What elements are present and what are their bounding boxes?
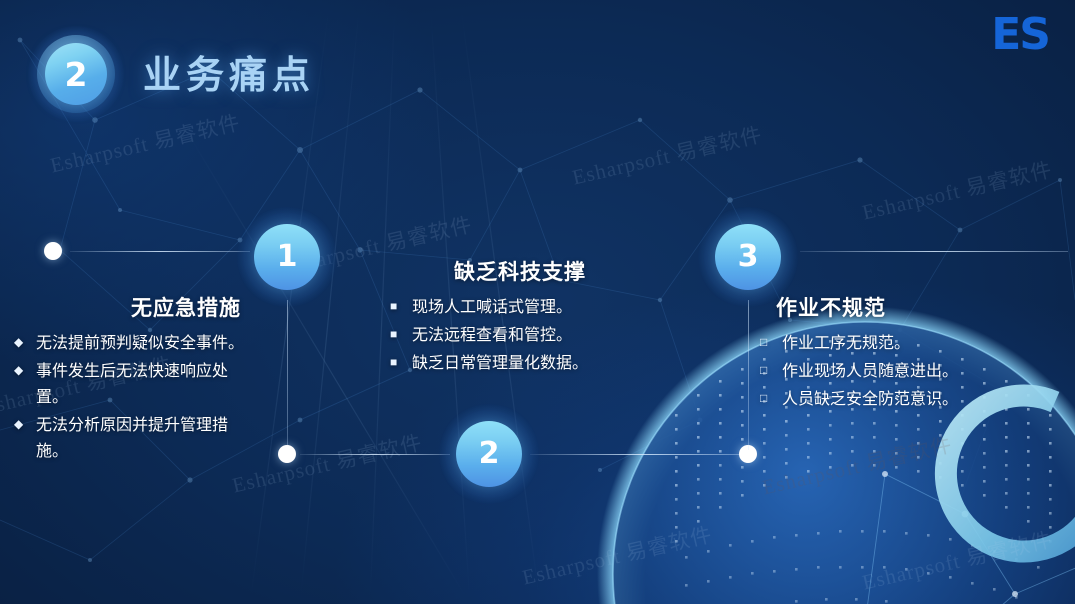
column-2-heading: 缺乏科技支撑 [390, 256, 650, 286]
node-core-2: 2 [456, 421, 522, 487]
diamond-bullet-icon: ◆ [14, 331, 36, 354]
watermark: Esharpsoft 易睿软件 [859, 524, 1055, 597]
watermark: Esharpsoft 易睿软件 [859, 154, 1055, 227]
section-number-badge: 2 [28, 26, 124, 122]
list-item: ◆ 无法提前预判疑似安全事件。 [14, 331, 249, 357]
list-item: □ 人员缺乏安全防范意识。 [760, 387, 1030, 413]
connector-dot-mid-left [278, 445, 296, 463]
bullet-text: 无法提前预判疑似安全事件。 [36, 331, 249, 357]
bullet-text: 无法远程查看和管控。 [412, 323, 650, 349]
connector-line-node1-down [287, 300, 288, 450]
connector-line-bottom-left [300, 454, 450, 455]
node-label-2: 2 [479, 439, 500, 469]
connector-dot-left [44, 242, 62, 260]
diamond-bullet-icon: ◆ [14, 413, 36, 436]
node-circle-2[interactable]: 2 [439, 404, 539, 504]
brand-logo: ES [991, 9, 1049, 60]
list-item: ■ 缺乏日常管理量化数据。 [390, 351, 650, 377]
hollow-square-bullet-icon: □ [760, 359, 782, 382]
slide-canvas: Esharpsoft 易睿软件 Esharpsoft 易睿软件 Esharpso… [0, 0, 1075, 604]
bullet-text: 缺乏日常管理量化数据。 [412, 351, 650, 377]
diamond-bullet-icon: ◆ [14, 359, 36, 382]
page-title: 业务痛点 [143, 44, 315, 99]
square-bullet-icon: ■ [390, 351, 412, 374]
square-bullet-icon: ■ [390, 323, 412, 346]
content-column-2: 缺乏科技支撑 ■ 现场人工喊话式管理。 ■ 无法远程查看和管控。 ■ 缺乏日常管… [390, 256, 650, 379]
hollow-square-bullet-icon: □ [760, 387, 782, 410]
content-column-3: 作业不规范 □ 作业工序无规范。 □ 作业现场人员随意进出。 □ 人员缺乏安全防… [760, 292, 1030, 415]
list-item: □ 作业现场人员随意进出。 [760, 359, 1030, 385]
bullet-text: 人员缺乏安全防范意识。 [782, 387, 1030, 413]
column-3-heading: 作业不规范 [760, 292, 1030, 322]
node-core-1: 1 [254, 224, 320, 290]
column-2-bullet-list: ■ 现场人工喊话式管理。 ■ 无法远程查看和管控。 ■ 缺乏日常管理量化数据。 [390, 295, 650, 377]
column-1-bullet-list: ◆ 无法提前预判疑似安全事件。 ◆ 事件发生后无法快速响应处置。 ◆ 无法分析原… [14, 331, 249, 465]
list-item: ■ 现场人工喊话式管理。 [390, 295, 650, 321]
column-3-bullet-list: □ 作业工序无规范。 □ 作业现场人员随意进出。 □ 人员缺乏安全防范意识。 [760, 331, 1030, 413]
badge-core: 2 [45, 43, 107, 105]
node-label-1: 1 [277, 242, 298, 272]
list-item: ◆ 事件发生后无法快速响应处置。 [14, 359, 249, 411]
bullet-text: 作业现场人员随意进出。 [782, 359, 1030, 385]
content-column-1: 无应急措施 ◆ 无法提前预判疑似安全事件。 ◆ 事件发生后无法快速响应处置。 ◆… [14, 292, 249, 467]
connector-line-right-top [800, 251, 1068, 252]
watermark: Esharpsoft 易睿软件 [229, 427, 425, 500]
list-item: ◆ 无法分析原因并提升管理措施。 [14, 413, 249, 465]
bullet-text: 作业工序无规范。 [782, 331, 1030, 357]
bullet-text: 事件发生后无法快速响应处置。 [36, 359, 249, 411]
watermark: Esharpsoft 易睿软件 [759, 429, 955, 502]
column-1-heading: 无应急措施 [14, 292, 249, 322]
hollow-square-bullet-icon: □ [760, 331, 782, 354]
connector-line-bottom-right [530, 454, 752, 455]
square-bullet-icon: ■ [390, 295, 412, 318]
node-label-3: 3 [738, 242, 759, 272]
bullet-text: 无法分析原因并提升管理措施。 [36, 413, 249, 465]
node-circle-1[interactable]: 1 [237, 207, 337, 307]
connector-line-node3-down [748, 300, 749, 450]
watermark: Esharpsoft 易睿软件 [519, 519, 715, 592]
section-number: 2 [65, 58, 88, 91]
node-core-3: 3 [715, 224, 781, 290]
watermark: Esharpsoft 易睿软件 [569, 119, 765, 192]
bullet-text: 现场人工喊话式管理。 [412, 295, 650, 321]
connector-line-left-top [70, 251, 250, 252]
list-item: ■ 无法远程查看和管控。 [390, 323, 650, 349]
list-item: □ 作业工序无规范。 [760, 331, 1030, 357]
